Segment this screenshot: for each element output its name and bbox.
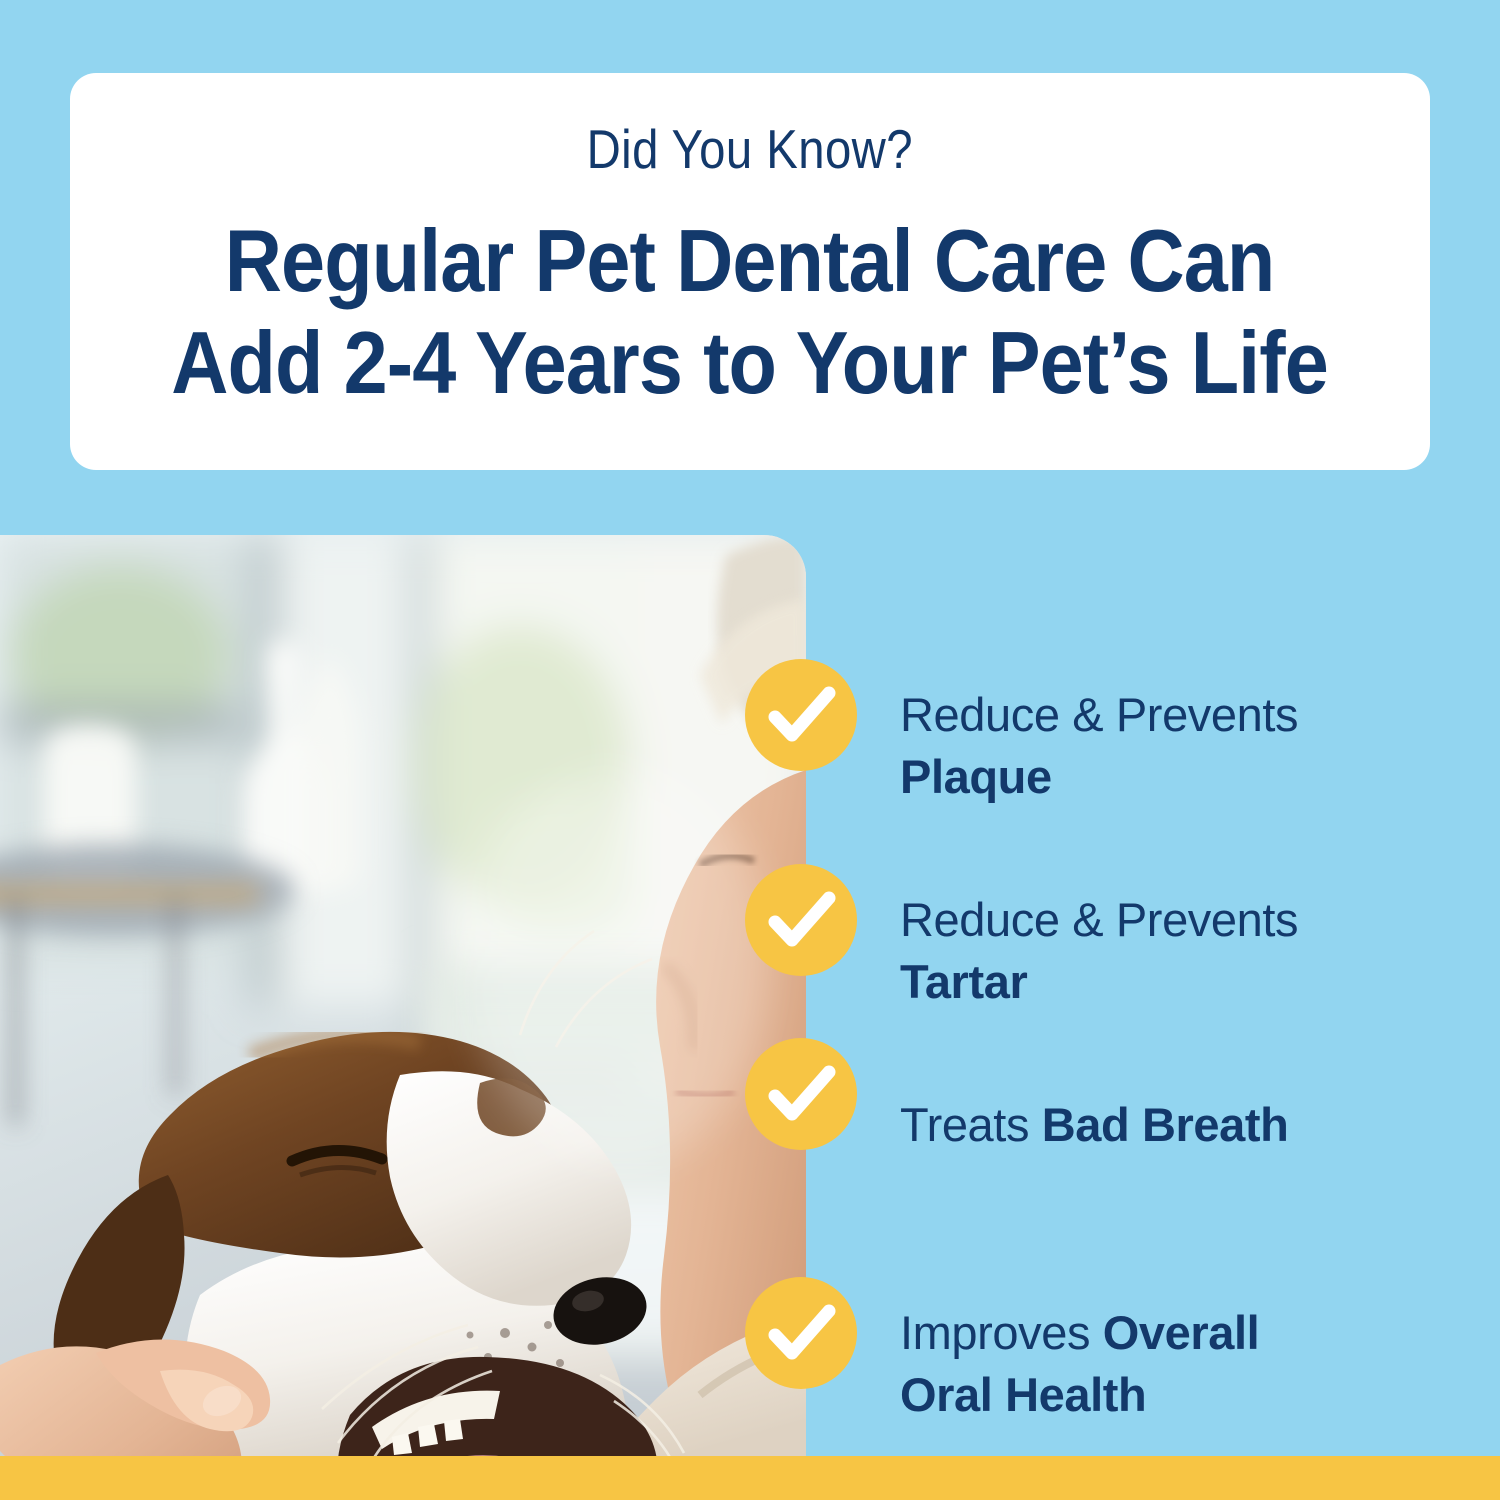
check-icon — [745, 1038, 857, 1150]
check-icon — [745, 659, 857, 771]
footer-accent-bar — [0, 1456, 1500, 1500]
page-title: Regular Pet Dental Care Can Add 2-4 Year… — [172, 210, 1329, 414]
eyebrow-text: Did You Know? — [587, 119, 913, 180]
infographic-canvas: Did You Know? Regular Pet Dental Care Ca… — [0, 0, 1500, 1500]
benefit-label: Reduce & Prevents Plaque — [900, 622, 1298, 808]
benefit-label: Improves Overall Oral Health — [900, 1240, 1259, 1426]
benefit-bold-text: Tartar — [900, 955, 1027, 1008]
check-icon — [745, 1277, 857, 1389]
benefit-label: Reduce & Prevents Tartar — [900, 827, 1298, 1013]
benefit-item-oral-health: Improves Overall Oral Health — [745, 1240, 1445, 1426]
benefit-normal-text: Treats — [900, 1098, 1042, 1151]
check-icon — [745, 864, 857, 976]
dog-photo-panel — [0, 535, 806, 1456]
benefits-list: Reduce & Prevents Plaque Reduce & Preven… — [745, 600, 1445, 1400]
benefit-item-tartar: Reduce & Prevents Tartar — [745, 827, 1445, 1013]
headline-card: Did You Know? Regular Pet Dental Care Ca… — [70, 73, 1430, 470]
dog-photo-image — [0, 535, 806, 1456]
headline-line-1: Regular Pet Dental Care Can — [172, 210, 1329, 312]
headline-line-2: Add 2-4 Years to Your Pet’s Life — [172, 312, 1329, 414]
benefit-bold-text: Plaque — [900, 750, 1052, 803]
benefit-bold-text: Bad Breath — [1042, 1098, 1289, 1151]
benefit-item-bad-breath: Treats Bad Breath — [745, 1032, 1445, 1156]
benefit-label: Treats Bad Breath — [900, 1032, 1288, 1156]
benefit-normal-text: Improves — [900, 1306, 1103, 1359]
benefit-item-plaque: Reduce & Prevents Plaque — [745, 622, 1445, 808]
benefit-normal-text: Reduce & Prevents — [900, 893, 1298, 946]
benefit-normal-text: Reduce & Prevents — [900, 688, 1298, 741]
